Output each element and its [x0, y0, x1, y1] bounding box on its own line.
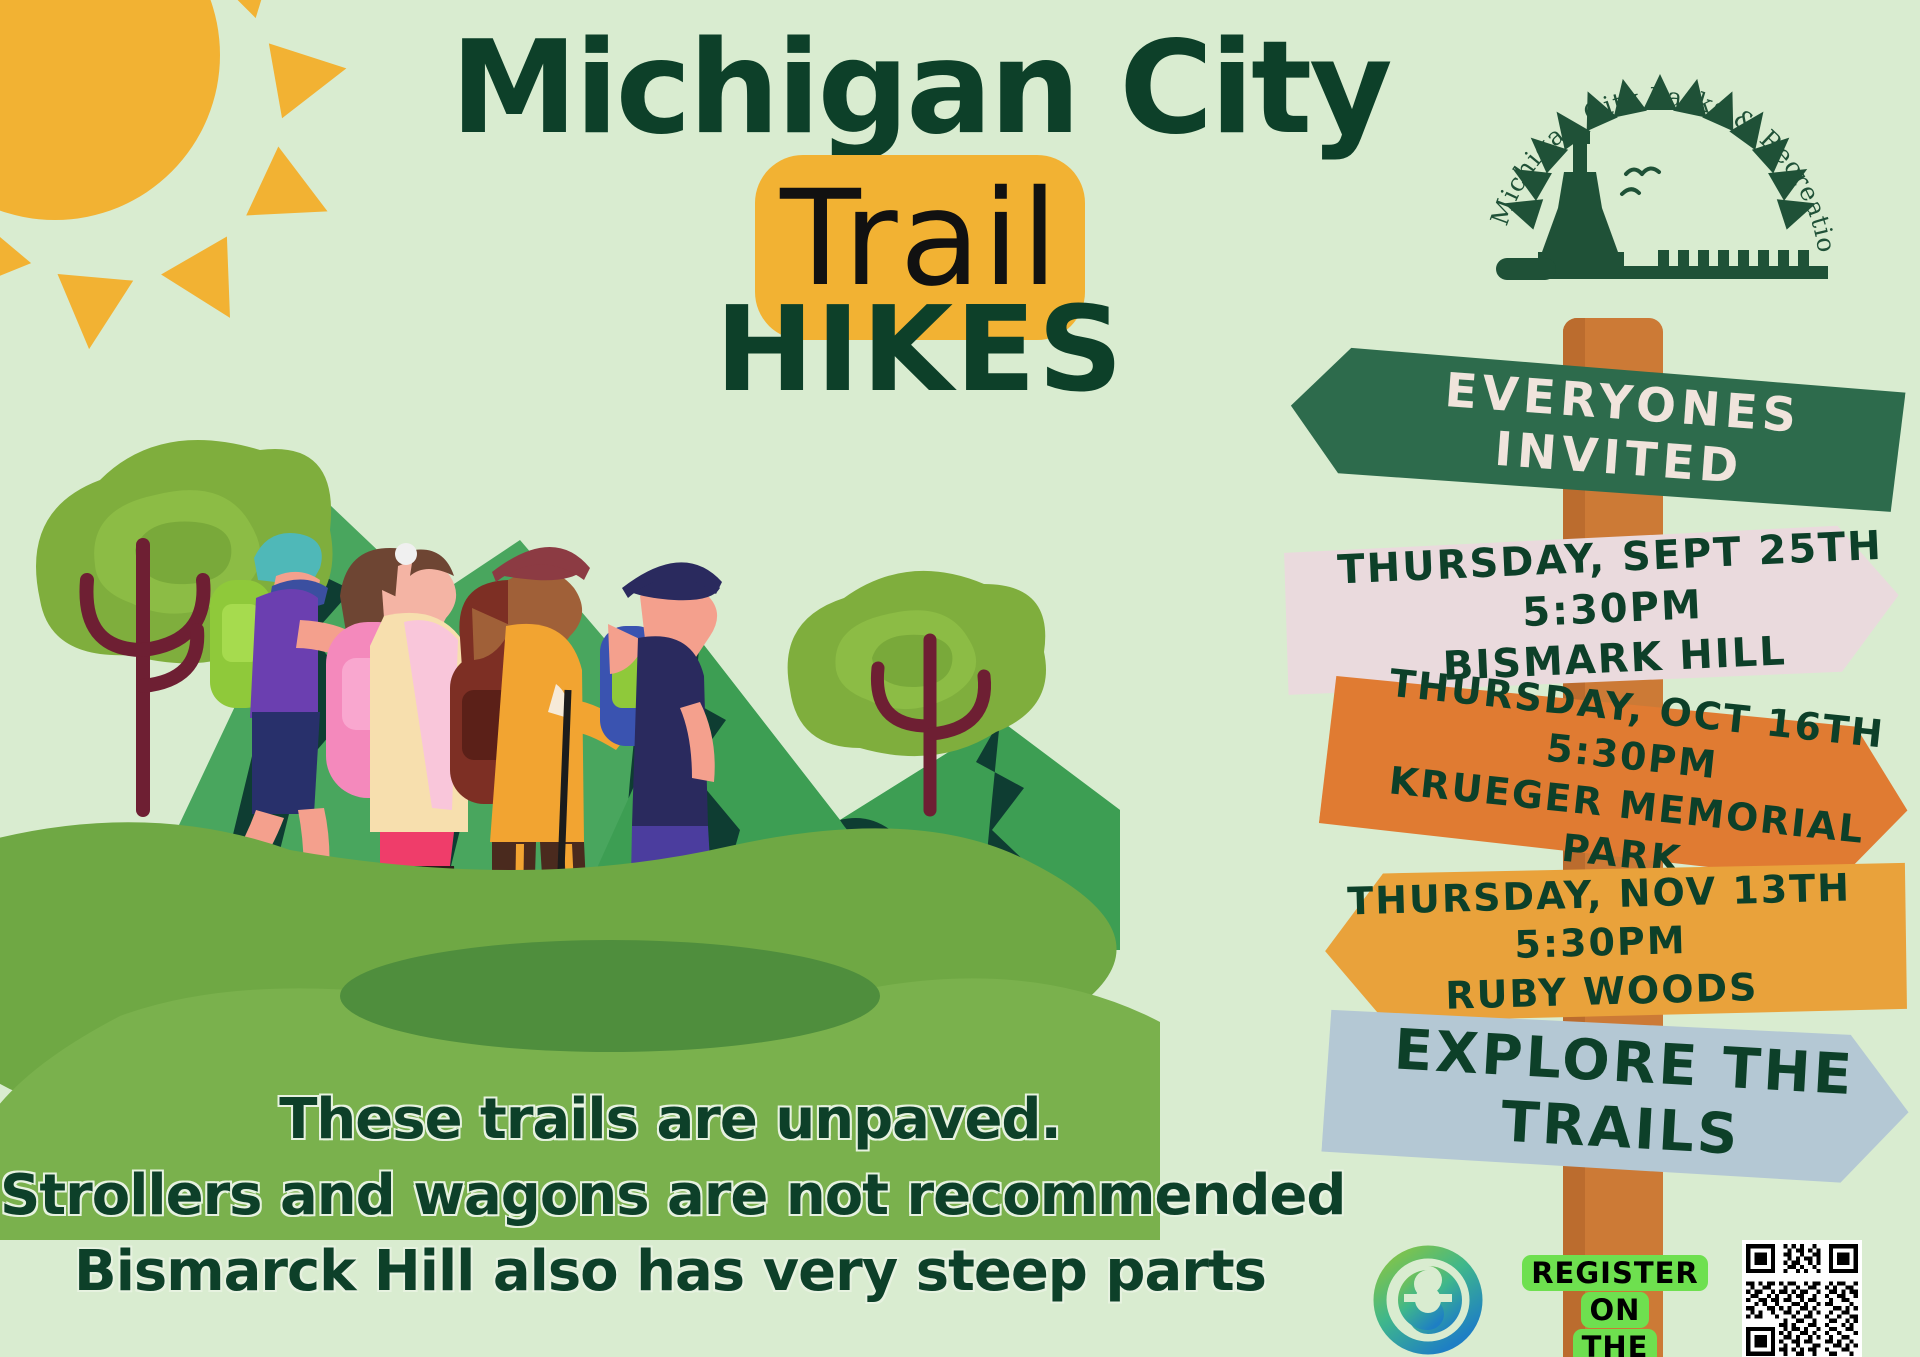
sign-explore-the-trails[interactable]: EXPLORE THE TRAILS — [1321, 1004, 1914, 1188]
michigan-city-parks-recreation-logo: Michigan City Parks & Recreation — [1480, 22, 1840, 287]
logo-sun-ray-triangles — [1499, 74, 1821, 230]
sun-rays-icon — [0, 0, 400, 400]
register-callout: REGISTER ON THE OTTOAPP — [1505, 1255, 1725, 1357]
note-line-1: These trails are unpaved. — [0, 1082, 1340, 1158]
logo-birds-icon — [1622, 168, 1659, 194]
trail-notes: These trails are unpaved. Strollers and … — [0, 1082, 1340, 1310]
poster-canvas: Michigan City Trail HIKES Michigan City … — [0, 0, 1920, 1357]
sign-text: EXPLORE THE TRAILS — [1321, 1004, 1914, 1188]
sign-text: THURSDAY, OCT 16TH 5:30PM KRUEGER MEMORI… — [1318, 670, 1917, 890]
sign-text: THURSDAY, NOV 13TH 5:30PM RUBY WOODS — [1321, 857, 1910, 1028]
note-line-2: Strollers and wagons are not recommended — [0, 1158, 1340, 1234]
qr-code[interactable] — [1742, 1240, 1862, 1357]
sign-text: THURSDAY, SEPT 25TH 5:30PM BISMARK HILL — [1282, 521, 1903, 699]
note-line-3: Bismarck Hill also has very steep parts — [0, 1234, 1340, 1310]
register-line-2: THE — [1573, 1329, 1658, 1357]
otto-circle-logo — [1372, 1244, 1484, 1356]
sign-sept-hike[interactable]: THURSDAY, SEPT 25TH 5:30PM BISMARK HILL — [1282, 521, 1903, 699]
register-line-1: REGISTER ON — [1522, 1255, 1708, 1328]
sign-nov-hike[interactable]: THURSDAY, NOV 13TH 5:30PM RUBY WOODS — [1321, 857, 1910, 1028]
title-line-michigan-city: Michigan City — [410, 25, 1430, 153]
sign-oct-hike[interactable]: THURSDAY, OCT 16TH 5:30PM KRUEGER MEMORI… — [1318, 670, 1917, 890]
poster-title: Michigan City Trail HIKES — [410, 25, 1430, 408]
title-word-hikes: HIKES — [410, 290, 1430, 408]
